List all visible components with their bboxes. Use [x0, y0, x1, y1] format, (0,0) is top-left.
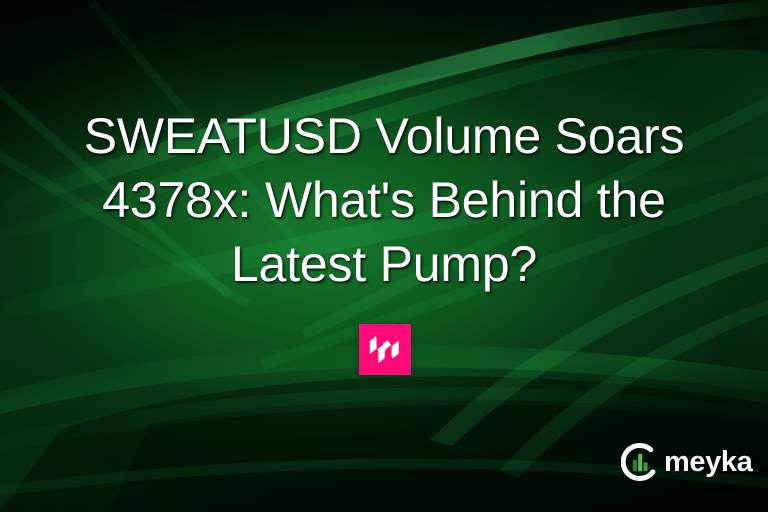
headline-line-2: 4378x: What's Behind the — [102, 172, 665, 228]
article-banner: SWEATUSD Volume Soars 4378x: What's Behi… — [0, 0, 768, 512]
headline-block: SWEATUSD Volume Soars 4378x: What's Behi… — [0, 104, 768, 296]
headline-line-3: Latest Pump? — [231, 236, 537, 292]
meyka-brand-logo: meyka — [621, 443, 752, 481]
meyka-ring-barchart-icon — [621, 443, 659, 481]
w-monogram-icon — [369, 336, 401, 364]
meyka-wordmark: meyka — [664, 448, 752, 477]
token-logo-badge — [359, 324, 411, 375]
page-title: SWEATUSD Volume Soars 4378x: What's Behi… — [44, 104, 724, 296]
headline-line-1: SWEATUSD Volume Soars — [84, 108, 685, 164]
